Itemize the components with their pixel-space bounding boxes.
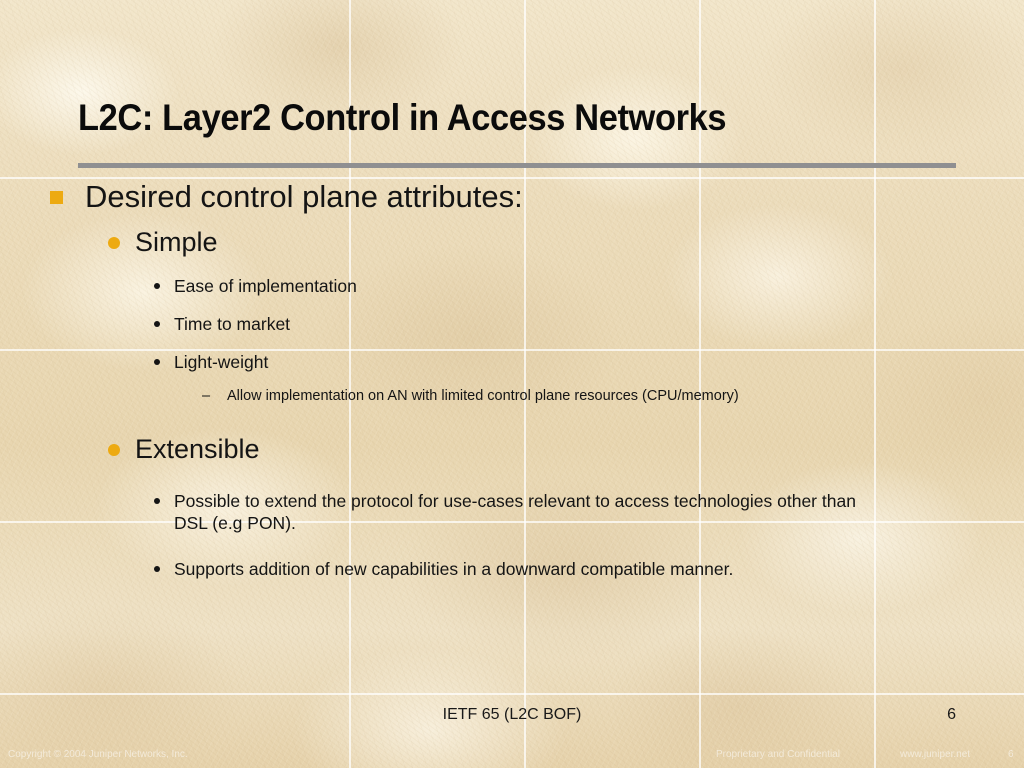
dash-bullet-icon: – — [202, 387, 210, 405]
dot-bullet-icon — [108, 444, 120, 456]
dot-bullet-icon — [108, 237, 120, 249]
bullet-text: Time to market — [174, 313, 874, 335]
branding-strip: Copyright © 2004 Juniper Networks, Inc. … — [0, 742, 1024, 768]
bullet-item-level3: Light-weight — [151, 351, 874, 373]
slide-page-number: 6 — [947, 706, 956, 724]
dot-bullet-icon — [154, 359, 160, 365]
bullet-text: Light-weight — [174, 351, 874, 373]
bullet-item-level2: Extensible — [104, 432, 1024, 466]
dot-bullet-icon — [154, 321, 160, 327]
dot-bullet-icon — [154, 283, 160, 289]
copyright-text: Copyright © 2004 Juniper Networks, Inc. — [8, 749, 188, 760]
bullet-text: Ease of implementation — [174, 275, 874, 297]
bullet-item-level3: Supports addition of new capabilities in… — [151, 558, 874, 580]
bullet-text: Possible to extend the protocol for use-… — [174, 490, 874, 534]
bullet-item-level4: – Allow implementation on AN with limite… — [199, 387, 907, 405]
bullet-item-level3: Time to market — [151, 313, 874, 335]
dot-bullet-icon — [154, 566, 160, 572]
grid-line-horizontal — [0, 693, 1024, 695]
footer-center-text: IETF 65 (L2C BOF) — [0, 706, 1024, 724]
title-underline-rule — [78, 163, 956, 168]
dot-bullet-icon — [154, 498, 160, 504]
slide-canvas: L2C: Layer2 Control in Access Networks D… — [0, 0, 1024, 768]
slide-body-content: Desired control plane attributes: Simple… — [0, 178, 1024, 580]
bullet-text: Simple — [135, 225, 1024, 259]
confidential-text: Proprietary and Confidential — [716, 749, 840, 760]
square-bullet-icon — [50, 191, 63, 204]
bullet-text: Supports addition of new capabilities in… — [174, 558, 874, 580]
bullet-text: Desired control plane attributes: — [85, 178, 1024, 216]
bullet-item-level2: Simple — [104, 225, 1024, 259]
branding-page-number: 6 — [1008, 749, 1014, 760]
slide-title: L2C: Layer2 Control in Access Networks — [78, 98, 896, 139]
bullet-item-level3: Ease of implementation — [151, 275, 874, 297]
website-url-text: www.juniper.net — [900, 749, 970, 760]
bullet-text: Extensible — [135, 432, 1024, 466]
bullet-text: Allow implementation on AN with limited … — [227, 387, 907, 405]
bullet-item-level1: Desired control plane attributes: — [48, 178, 1024, 216]
bullet-item-level3: Possible to extend the protocol for use-… — [151, 490, 874, 534]
